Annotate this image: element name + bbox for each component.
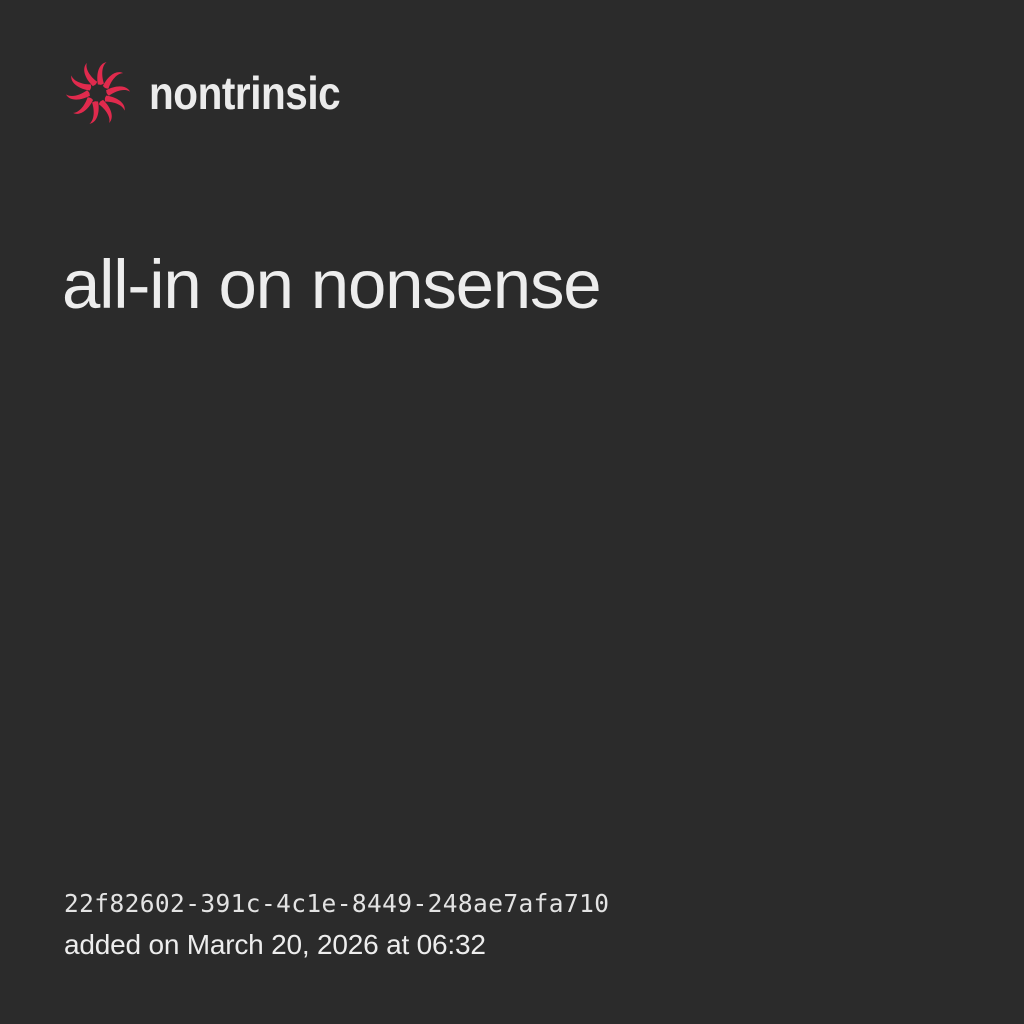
added-timestamp: added on March 20, 2026 at 06:32 [64,928,964,962]
brand-lockup: nontrinsic [64,58,366,128]
footer-meta: 22f82602-391c-4c1e-8449-248ae7afa710 add… [64,889,964,962]
logo-petal [105,86,129,95]
page-title: all-in on nonsense [62,246,962,323]
brand-name: nontrinsic [149,70,340,116]
spiral-petal-logo-icon [64,59,132,127]
logo-petal [66,90,90,99]
content-card: nontrinsic all-in on nonsense 22f82602-3… [0,0,1024,1024]
record-id: 22f82602-391c-4c1e-8449-248ae7afa710 [64,889,964,920]
